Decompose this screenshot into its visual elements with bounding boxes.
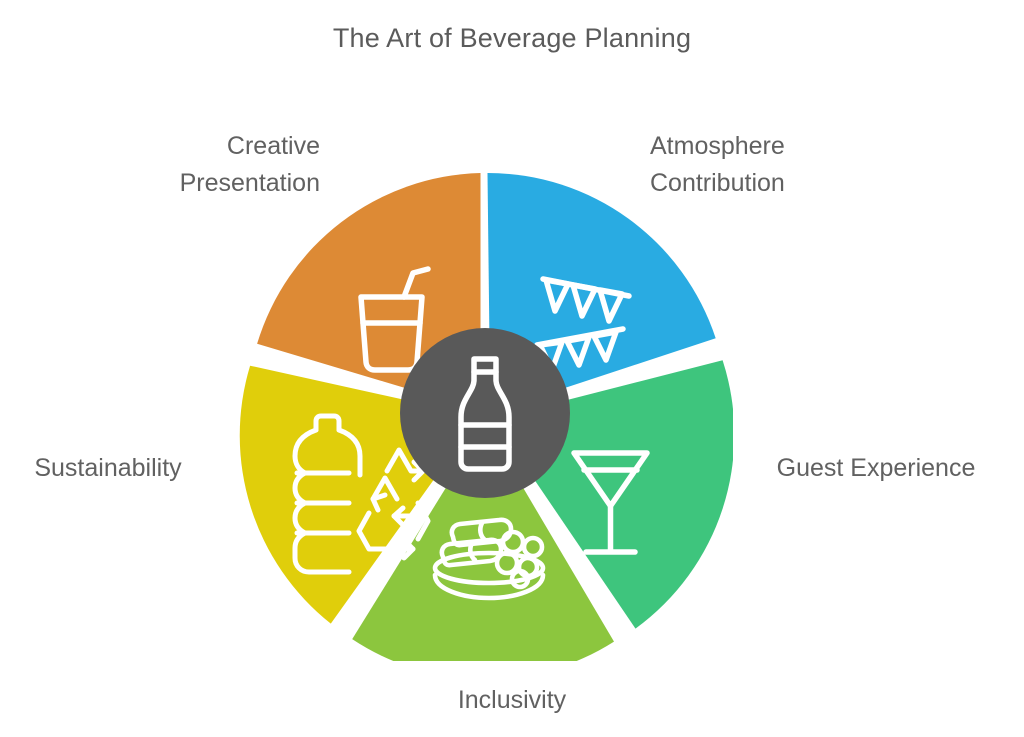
label-creative-presentation: Creative Presentation [0, 128, 320, 202]
label-sustainability: Sustainability [0, 450, 216, 487]
label-inclusivity: Inclusivity [0, 682, 1024, 719]
wheel-svg [237, 165, 733, 661]
beverage-planning-wheel [237, 165, 733, 661]
label-atmosphere-contribution: Atmosphere Contribution [650, 128, 990, 202]
label-guest-experience: Guest Experience [752, 450, 1000, 487]
hub-circle[interactable] [400, 328, 570, 498]
page-title: The Art of Beverage Planning [0, 20, 1024, 56]
diagram-canvas: The Art of Beverage Planning [0, 0, 1024, 737]
hub-center[interactable] [400, 328, 570, 498]
